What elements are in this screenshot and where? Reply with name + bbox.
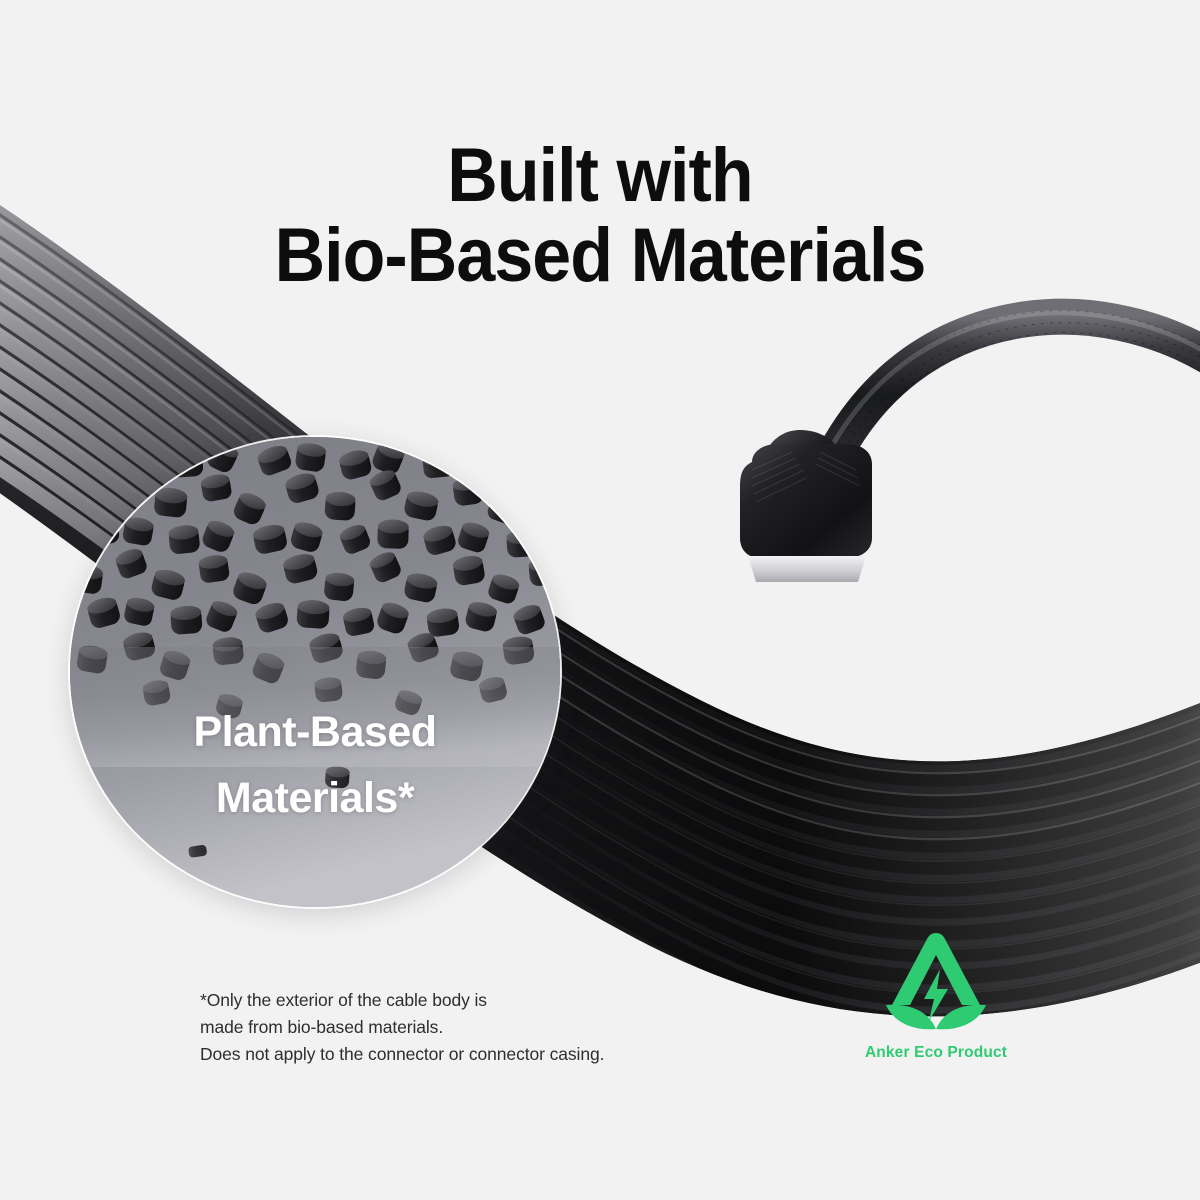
inset-caption-line2: Materials* — [70, 765, 560, 831]
connector-metal-tip — [748, 556, 866, 582]
eco-badge: Anker Eco Product — [838, 925, 1034, 1062]
logo-leaf-left — [886, 1005, 936, 1030]
logo-leaf-right — [936, 1005, 986, 1030]
resin-pellets-illustration — [70, 437, 560, 907]
product-marketing-image: Plant-Based Materials* Built with Bio-Ba… — [0, 0, 1200, 1200]
footnote-disclaimer: *Only the exterior of the cable body is … — [200, 987, 604, 1068]
magnifier-inset-circle: Plant-Based Materials* — [70, 437, 560, 907]
logo-bolt-shape — [924, 969, 948, 1021]
anker-eco-logo-icon — [876, 925, 996, 1037]
eco-badge-label: Anker Eco Product — [838, 1044, 1034, 1062]
inset-caption: Plant-Based Materials* — [70, 699, 560, 831]
inset-caption-line1: Plant-Based — [70, 699, 560, 765]
connector-housing — [740, 444, 872, 558]
